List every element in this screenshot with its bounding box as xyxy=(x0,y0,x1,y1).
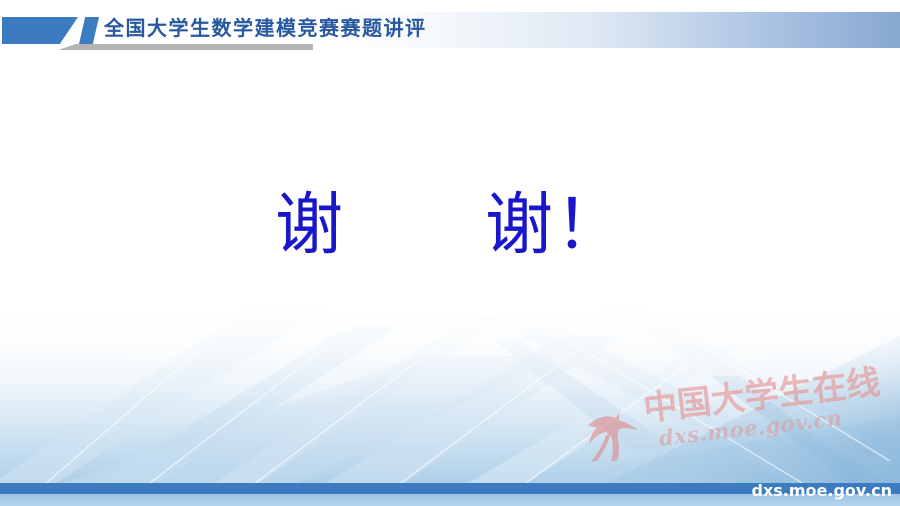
thanks-text: 谢 谢！ xyxy=(0,186,900,266)
slide-header: 全国大学生数学建模竞赛赛题讲评 xyxy=(0,0,900,58)
page-title: 全国大学生数学建模竞赛赛题讲评 xyxy=(104,16,427,42)
blue-slash-bar-icon xyxy=(79,17,99,44)
running-figure-logo-icon xyxy=(583,402,647,464)
presentation-slide: 全国大学生数学建模竞赛赛题讲评 谢 谢！ xyxy=(0,0,900,506)
footer-url: dxs.moe.gov.cn xyxy=(752,480,893,502)
header-underline-rule xyxy=(58,44,313,50)
blue-parallelogram-icon xyxy=(2,17,78,44)
